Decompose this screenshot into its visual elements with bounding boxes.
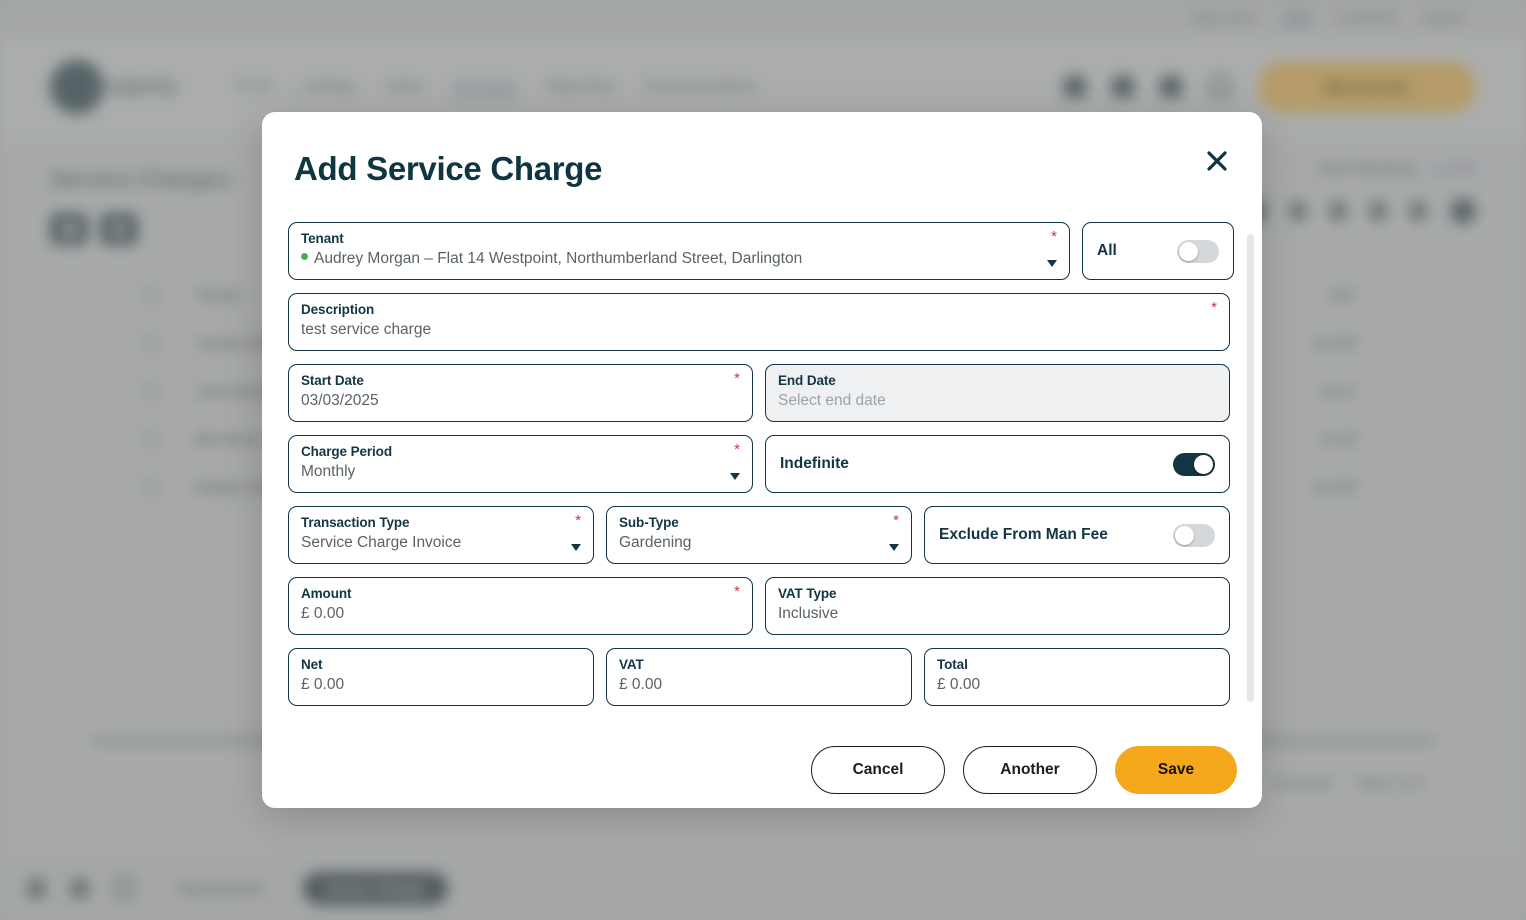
form-row-tenant: Tenant Audrey Morgan – Flat 14 Westpoint…	[288, 222, 1230, 280]
net-label: Net	[301, 657, 579, 673]
tenant-value-wrap: Audrey Morgan – Flat 14 Westpoint, North…	[301, 247, 1055, 271]
add-service-charge-modal: Add Service Charge Tenant Audrey Morgan …	[262, 112, 1262, 808]
end-date-placeholder: Select end date	[778, 389, 1215, 413]
total-field: Total £ 0.00	[924, 648, 1230, 706]
amount-input[interactable]: Amount £ 0.00 *	[288, 577, 753, 635]
status-dot-icon	[301, 253, 308, 260]
amount-label: Amount	[301, 586, 738, 602]
description-input[interactable]: Description test service charge *	[288, 293, 1230, 351]
modal-scrollbar[interactable]	[1247, 234, 1254, 702]
form-row-charge-period: Charge Period Monthly * Indefinite	[288, 435, 1230, 493]
required-marker: *	[893, 514, 899, 528]
end-date-input[interactable]: End Date Select end date	[765, 364, 1230, 422]
charge-period-value: Monthly	[301, 460, 738, 484]
form-row-dates: Start Date 03/03/2025 * End Date Select …	[288, 364, 1230, 422]
modal-footer: Cancel Another Save	[262, 732, 1262, 808]
all-toggle-label: All	[1097, 242, 1117, 260]
sub-type-select[interactable]: Sub-Type Gardening *	[606, 506, 912, 564]
vat-type-select[interactable]: VAT Type Inclusive	[765, 577, 1230, 635]
exclude-from-man-fee-toggle-field[interactable]: Exclude From Man Fee	[924, 506, 1230, 564]
chevron-down-icon[interactable]	[730, 473, 740, 480]
required-marker: *	[1051, 230, 1057, 244]
chevron-down-icon[interactable]	[1047, 260, 1057, 267]
cancel-button[interactable]: Cancel	[811, 746, 945, 794]
total-value: £ 0.00	[937, 673, 1215, 697]
transaction-type-select[interactable]: Transaction Type Service Charge Invoice …	[288, 506, 594, 564]
vat-value: £ 0.00	[619, 673, 897, 697]
total-label: Total	[937, 657, 1215, 673]
net-field: Net £ 0.00	[288, 648, 594, 706]
sub-type-label: Sub-Type	[619, 515, 897, 531]
tenant-select[interactable]: Tenant Audrey Morgan – Flat 14 Westpoint…	[288, 222, 1070, 280]
tenant-label: Tenant	[301, 231, 1055, 247]
another-button[interactable]: Another	[963, 746, 1097, 794]
transaction-type-value: Service Charge Invoice	[301, 531, 579, 555]
chevron-down-icon[interactable]	[571, 544, 581, 551]
charge-period-select[interactable]: Charge Period Monthly *	[288, 435, 753, 493]
tenant-value: Audrey Morgan – Flat 14 Westpoint, North…	[314, 250, 802, 267]
toggle-knob	[1194, 455, 1213, 474]
vat-type-label: VAT Type	[778, 586, 1215, 602]
form-row-types: Transaction Type Service Charge Invoice …	[288, 506, 1230, 564]
required-marker: *	[734, 372, 740, 386]
page-title: Add Service Charge	[294, 150, 1222, 188]
start-date-input[interactable]: Start Date 03/03/2025 *	[288, 364, 753, 422]
all-toggle-switch[interactable]	[1177, 240, 1219, 263]
vat-field: VAT £ 0.00	[606, 648, 912, 706]
toggle-knob	[1175, 526, 1194, 545]
chevron-down-icon[interactable]	[889, 544, 899, 551]
required-marker: *	[575, 514, 581, 528]
close-icon[interactable]	[1200, 144, 1234, 178]
indefinite-toggle-label: Indefinite	[780, 455, 849, 473]
form-row-description: Description test service charge *	[288, 293, 1230, 351]
net-value: £ 0.00	[301, 673, 579, 697]
charge-period-label: Charge Period	[301, 444, 738, 460]
required-marker: *	[734, 443, 740, 457]
required-marker: *	[1211, 301, 1217, 315]
form-row-totals: Net £ 0.00 VAT £ 0.00 Total £ 0.00	[288, 648, 1230, 706]
description-label: Description	[301, 302, 1215, 318]
toggle-knob	[1179, 242, 1198, 261]
amount-value: £ 0.00	[301, 602, 738, 626]
exclude-from-man-fee-label: Exclude From Man Fee	[939, 526, 1108, 544]
form-row-amount: Amount £ 0.00 * VAT Type Inclusive	[288, 577, 1230, 635]
required-marker: *	[734, 585, 740, 599]
modal-body: Tenant Audrey Morgan – Flat 14 Westpoint…	[262, 222, 1262, 732]
exclude-from-man-fee-switch[interactable]	[1173, 524, 1215, 547]
all-toggle-field[interactable]: All	[1082, 222, 1234, 280]
indefinite-toggle-field[interactable]: Indefinite	[765, 435, 1230, 493]
transaction-type-label: Transaction Type	[301, 515, 579, 531]
vat-label: VAT	[619, 657, 897, 673]
sub-type-value: Gardening	[619, 531, 897, 555]
start-date-value: 03/03/2025	[301, 389, 738, 413]
description-value: test service charge	[301, 318, 1215, 342]
modal-header: Add Service Charge	[262, 112, 1262, 222]
indefinite-toggle-switch[interactable]	[1173, 453, 1215, 476]
start-date-label: Start Date	[301, 373, 738, 389]
save-button[interactable]: Save	[1115, 746, 1237, 794]
vat-type-value: Inclusive	[778, 602, 1215, 626]
end-date-label: End Date	[778, 373, 1215, 389]
